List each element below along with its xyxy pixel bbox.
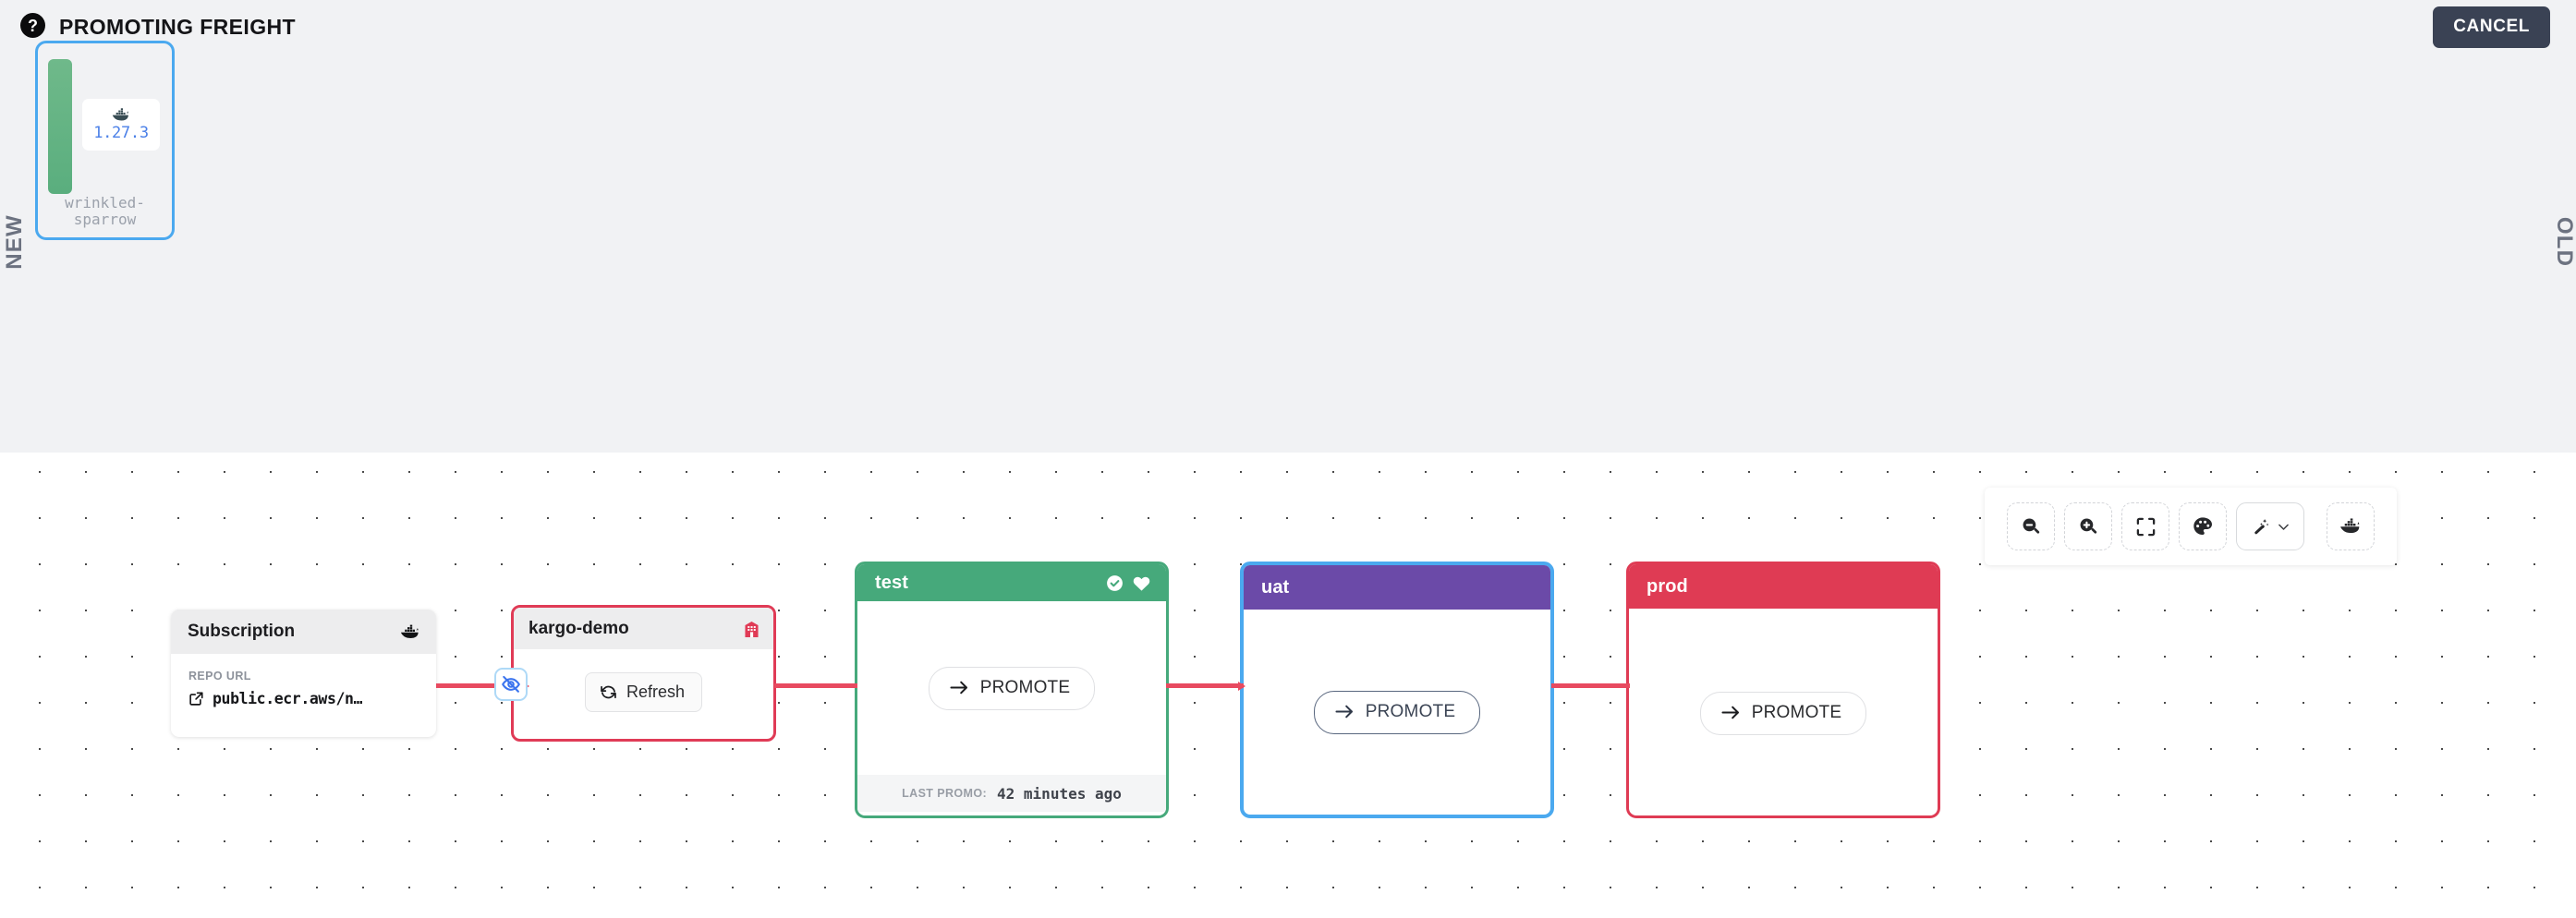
stage-test-title: test — [875, 573, 1105, 594]
cancel-button[interactable]: CANCEL — [2433, 6, 2550, 48]
promote-button-prod-label: PROMOTE — [1752, 703, 1841, 723]
promote-button-test-label: PROMOTE — [980, 678, 1070, 698]
refresh-button[interactable]: Refresh — [585, 672, 702, 712]
repo-url-value: public.ecr.aws/n… — [213, 690, 362, 707]
chevron-down-icon — [2276, 519, 2291, 535]
subscription-node-body: REPO URL public.ecr.aws/n… — [171, 654, 436, 707]
stage-prod-title: prod — [1646, 576, 1923, 598]
edge-warehouse-test — [774, 683, 857, 688]
promote-button-prod[interactable]: PROMOTE — [1700, 692, 1866, 735]
stage-node-test[interactable]: test PROMOTE LAST PROMO: — [855, 562, 1169, 818]
refresh-button-label: Refresh — [626, 682, 685, 702]
stage-uat-title: uat — [1261, 577, 1536, 598]
freight-name-line1: wrinkled- — [65, 194, 145, 211]
docker-icon — [399, 623, 421, 641]
arrow-right-icon — [1335, 704, 1354, 719]
color-palette-button[interactable] — [2179, 502, 2227, 550]
stage-prod-body: PROMOTE — [1629, 609, 1938, 817]
stage-test-icons — [1105, 574, 1151, 593]
check-circle-icon[interactable] — [1105, 574, 1124, 593]
question-mark-circle-icon[interactable]: ? — [20, 13, 45, 38]
stage-node-prod[interactable]: prod PROMOTE — [1626, 562, 1940, 818]
repo-url-value-row[interactable]: public.ecr.aws/n… — [188, 690, 436, 707]
edge-test-uat — [1166, 683, 1244, 688]
warehouse-title: kargo-demo — [529, 619, 743, 639]
eye-slash-icon — [501, 674, 521, 695]
stage-test-header: test — [857, 564, 1166, 601]
old-axis-label: OLD — [2551, 217, 2576, 267]
stage-prod-header: prod — [1629, 564, 1938, 609]
freight-card-wrinkled-sparrow[interactable]: 1.27.3 wrinkled- sparrow — [35, 41, 175, 240]
subscription-node-header: Subscription — [171, 610, 436, 654]
edge-uat-prod — [1551, 683, 1630, 688]
warehouse-icon — [743, 619, 760, 638]
promote-button-uat[interactable]: PROMOTE — [1314, 691, 1480, 734]
theme-select-button[interactable] — [2236, 502, 2304, 550]
magic-wand-icon — [2250, 516, 2271, 538]
zoom-out-icon — [2020, 515, 2043, 538]
docker-icon — [2339, 517, 2363, 536]
heart-icon[interactable] — [1132, 574, 1151, 592]
zoom-out-button[interactable] — [2007, 502, 2055, 550]
warehouse-node-body: Refresh — [514, 649, 773, 734]
stage-test-body: PROMOTE — [857, 601, 1166, 775]
color-palette-icon — [2192, 515, 2214, 538]
promote-freight-screen: ? PROMOTING FREIGHT CANCEL NEW OLD — [0, 0, 2576, 918]
page-title: PROMOTING FREIGHT — [59, 15, 296, 40]
docker-filter-button[interactable] — [2327, 502, 2375, 550]
external-link-icon — [188, 691, 204, 707]
fit-screen-icon — [2135, 516, 2157, 538]
arrow-right-icon — [1721, 705, 1740, 720]
repo-url-label: REPO URL — [188, 670, 436, 682]
last-promo-value: 42 minutes ago — [997, 785, 1122, 803]
zoom-in-button[interactable] — [2064, 502, 2112, 550]
freight-selection-panel: ? PROMOTING FREIGHT CANCEL NEW OLD — [0, 0, 2576, 453]
panel-header: ? PROMOTING FREIGHT CANCEL — [0, 0, 2576, 54]
last-promo-label: LAST PROMO: — [902, 787, 987, 800]
fit-screen-button[interactable] — [2121, 502, 2169, 550]
subscription-title: Subscription — [188, 622, 399, 642]
stage-test-footer: LAST PROMO: 42 minutes ago — [857, 775, 1166, 812]
freight-name: wrinkled- sparrow — [38, 195, 172, 229]
refresh-icon — [600, 683, 617, 701]
zoom-in-icon — [2077, 515, 2100, 538]
canvas-toolbar — [1985, 488, 2397, 565]
promote-button-uat-label: PROMOTE — [1366, 702, 1455, 722]
docker-icon — [111, 107, 131, 123]
freight-version: 1.27.3 — [93, 124, 149, 142]
stage-node-uat[interactable]: uat PROMOTE — [1240, 562, 1554, 818]
stage-uat-body: PROMOTE — [1244, 610, 1550, 815]
freight-health-bar — [48, 59, 72, 194]
edge-arrow-2 — [1238, 682, 1245, 691]
subscription-node[interactable]: Subscription REPO URL — [171, 610, 436, 737]
hide-warehouse-toggle[interactable] — [494, 668, 528, 701]
stage-uat-header: uat — [1244, 565, 1550, 610]
new-axis-label: NEW — [2, 214, 28, 270]
warehouse-node-header: kargo-demo — [514, 608, 773, 649]
freight-name-line2: sparrow — [74, 211, 136, 228]
warehouse-node-kargo-demo[interactable]: kargo-demo — [511, 605, 776, 742]
promote-button-test[interactable]: PROMOTE — [929, 667, 1095, 710]
freight-artifact-tile[interactable]: 1.27.3 — [82, 99, 160, 151]
arrow-right-icon — [950, 680, 968, 695]
